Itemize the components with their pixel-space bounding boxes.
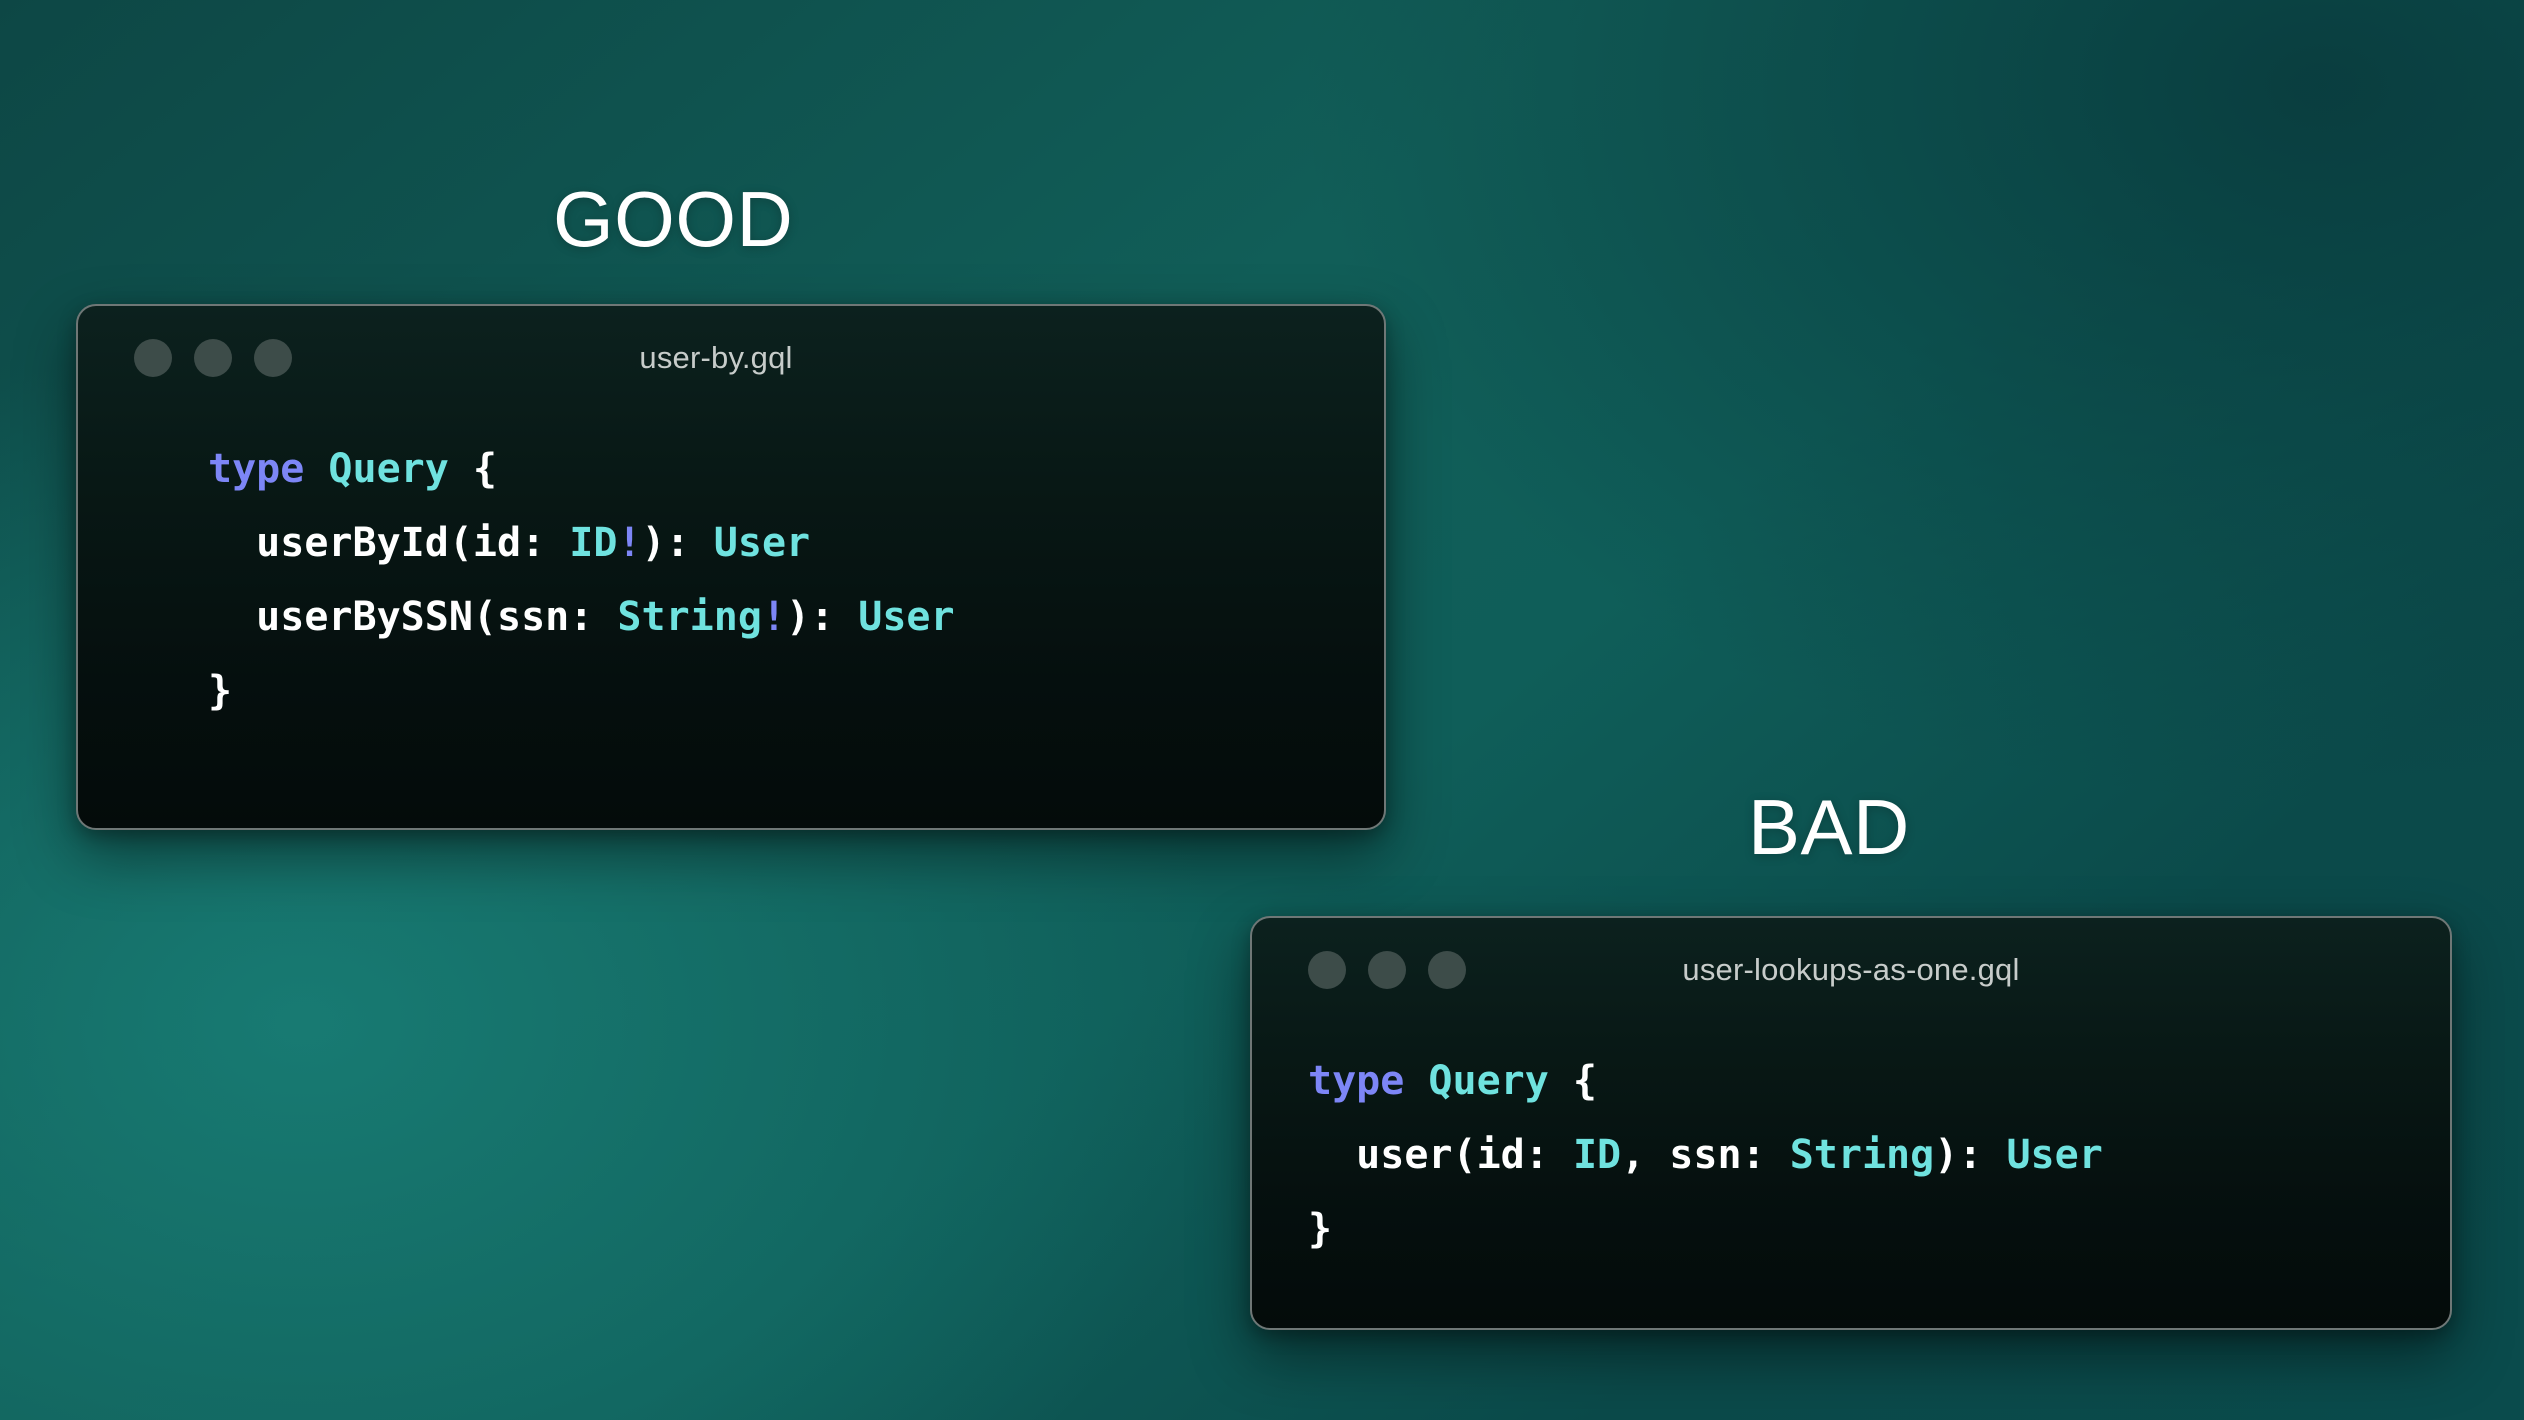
window-titlebar-bad: user-lookups-as-one.gql <box>1252 918 2450 1022</box>
code-token-keyword: type <box>1308 1058 1404 1104</box>
traffic-lights-bad <box>1308 951 1466 989</box>
minimize-dot-icon[interactable] <box>1368 951 1406 989</box>
code-token-identifier: ssn <box>497 594 569 640</box>
maximize-dot-icon[interactable] <box>1428 951 1466 989</box>
code-token-identifier: id <box>473 520 521 566</box>
bad-heading: BAD <box>1748 783 1910 871</box>
code-token-punctuation: } <box>208 668 232 714</box>
code-block-bad: type Query { user(id: ID, ssn: String): … <box>1252 1022 2450 1266</box>
close-dot-icon[interactable] <box>134 339 172 377</box>
code-token-punctuation: ): <box>1934 1132 2006 1178</box>
close-dot-icon[interactable] <box>1308 951 1346 989</box>
code-token-punctuation <box>1404 1058 1428 1104</box>
code-token-type: String <box>617 594 762 640</box>
window-titlebar-good: user-by.gql <box>78 306 1384 410</box>
code-token-punctuation: { <box>1549 1058 1597 1104</box>
code-line: user(id: ID, ssn: String): User <box>1308 1118 2450 1192</box>
code-token-punctuation: : <box>569 594 617 640</box>
code-token-keyword: ! <box>617 520 641 566</box>
code-line: userById(id: ID!): User <box>208 506 1384 580</box>
code-token-punctuation: : <box>1525 1132 1573 1178</box>
maximize-dot-icon[interactable] <box>254 339 292 377</box>
code-window-good[interactable]: user-by.gql type Query { userById(id: ID… <box>76 304 1386 830</box>
code-token-type: ID <box>1573 1132 1621 1178</box>
code-line: } <box>208 654 1384 728</box>
code-token-identifier: id <box>1477 1132 1525 1178</box>
code-token-type: ID <box>569 520 617 566</box>
code-token-type: User <box>858 594 954 640</box>
code-token-identifier: user <box>1308 1132 1453 1178</box>
good-heading: GOOD <box>553 175 793 263</box>
code-line: } <box>1308 1192 2450 1266</box>
slide-canvas: GOOD user-by.gql type Query { userById(i… <box>0 0 2524 1420</box>
code-token-type: User <box>714 520 810 566</box>
code-token-punctuation: , <box>1621 1132 1669 1178</box>
code-token-identifier: userById <box>208 520 449 566</box>
code-block-good: type Query { userById(id: ID!): User use… <box>78 410 1384 728</box>
code-token-punctuation: ( <box>473 594 497 640</box>
code-token-type: User <box>2006 1132 2102 1178</box>
code-token-punctuation: ): <box>786 594 858 640</box>
code-token-keyword: ! <box>762 594 786 640</box>
code-token-punctuation: : <box>1742 1132 1790 1178</box>
code-token-type: Query <box>1428 1058 1548 1104</box>
code-token-type: Query <box>328 446 448 492</box>
code-token-punctuation: { <box>449 446 497 492</box>
minimize-dot-icon[interactable] <box>194 339 232 377</box>
code-line: type Query { <box>1308 1044 2450 1118</box>
code-window-bad[interactable]: user-lookups-as-one.gql type Query { use… <box>1250 916 2452 1330</box>
code-token-punctuation: : <box>521 520 569 566</box>
code-token-punctuation <box>304 446 328 492</box>
code-token-identifier: userBySSN <box>208 594 473 640</box>
traffic-lights-good <box>134 339 292 377</box>
code-token-keyword: type <box>208 446 304 492</box>
code-token-punctuation: ( <box>449 520 473 566</box>
code-line: type Query { <box>208 432 1384 506</box>
code-token-punctuation: ): <box>642 520 714 566</box>
code-token-type: String <box>1790 1132 1935 1178</box>
code-token-punctuation: } <box>1308 1206 1332 1252</box>
code-line: userBySSN(ssn: String!): User <box>208 580 1384 654</box>
code-token-punctuation: ( <box>1453 1132 1477 1178</box>
code-token-identifier: ssn <box>1669 1132 1741 1178</box>
